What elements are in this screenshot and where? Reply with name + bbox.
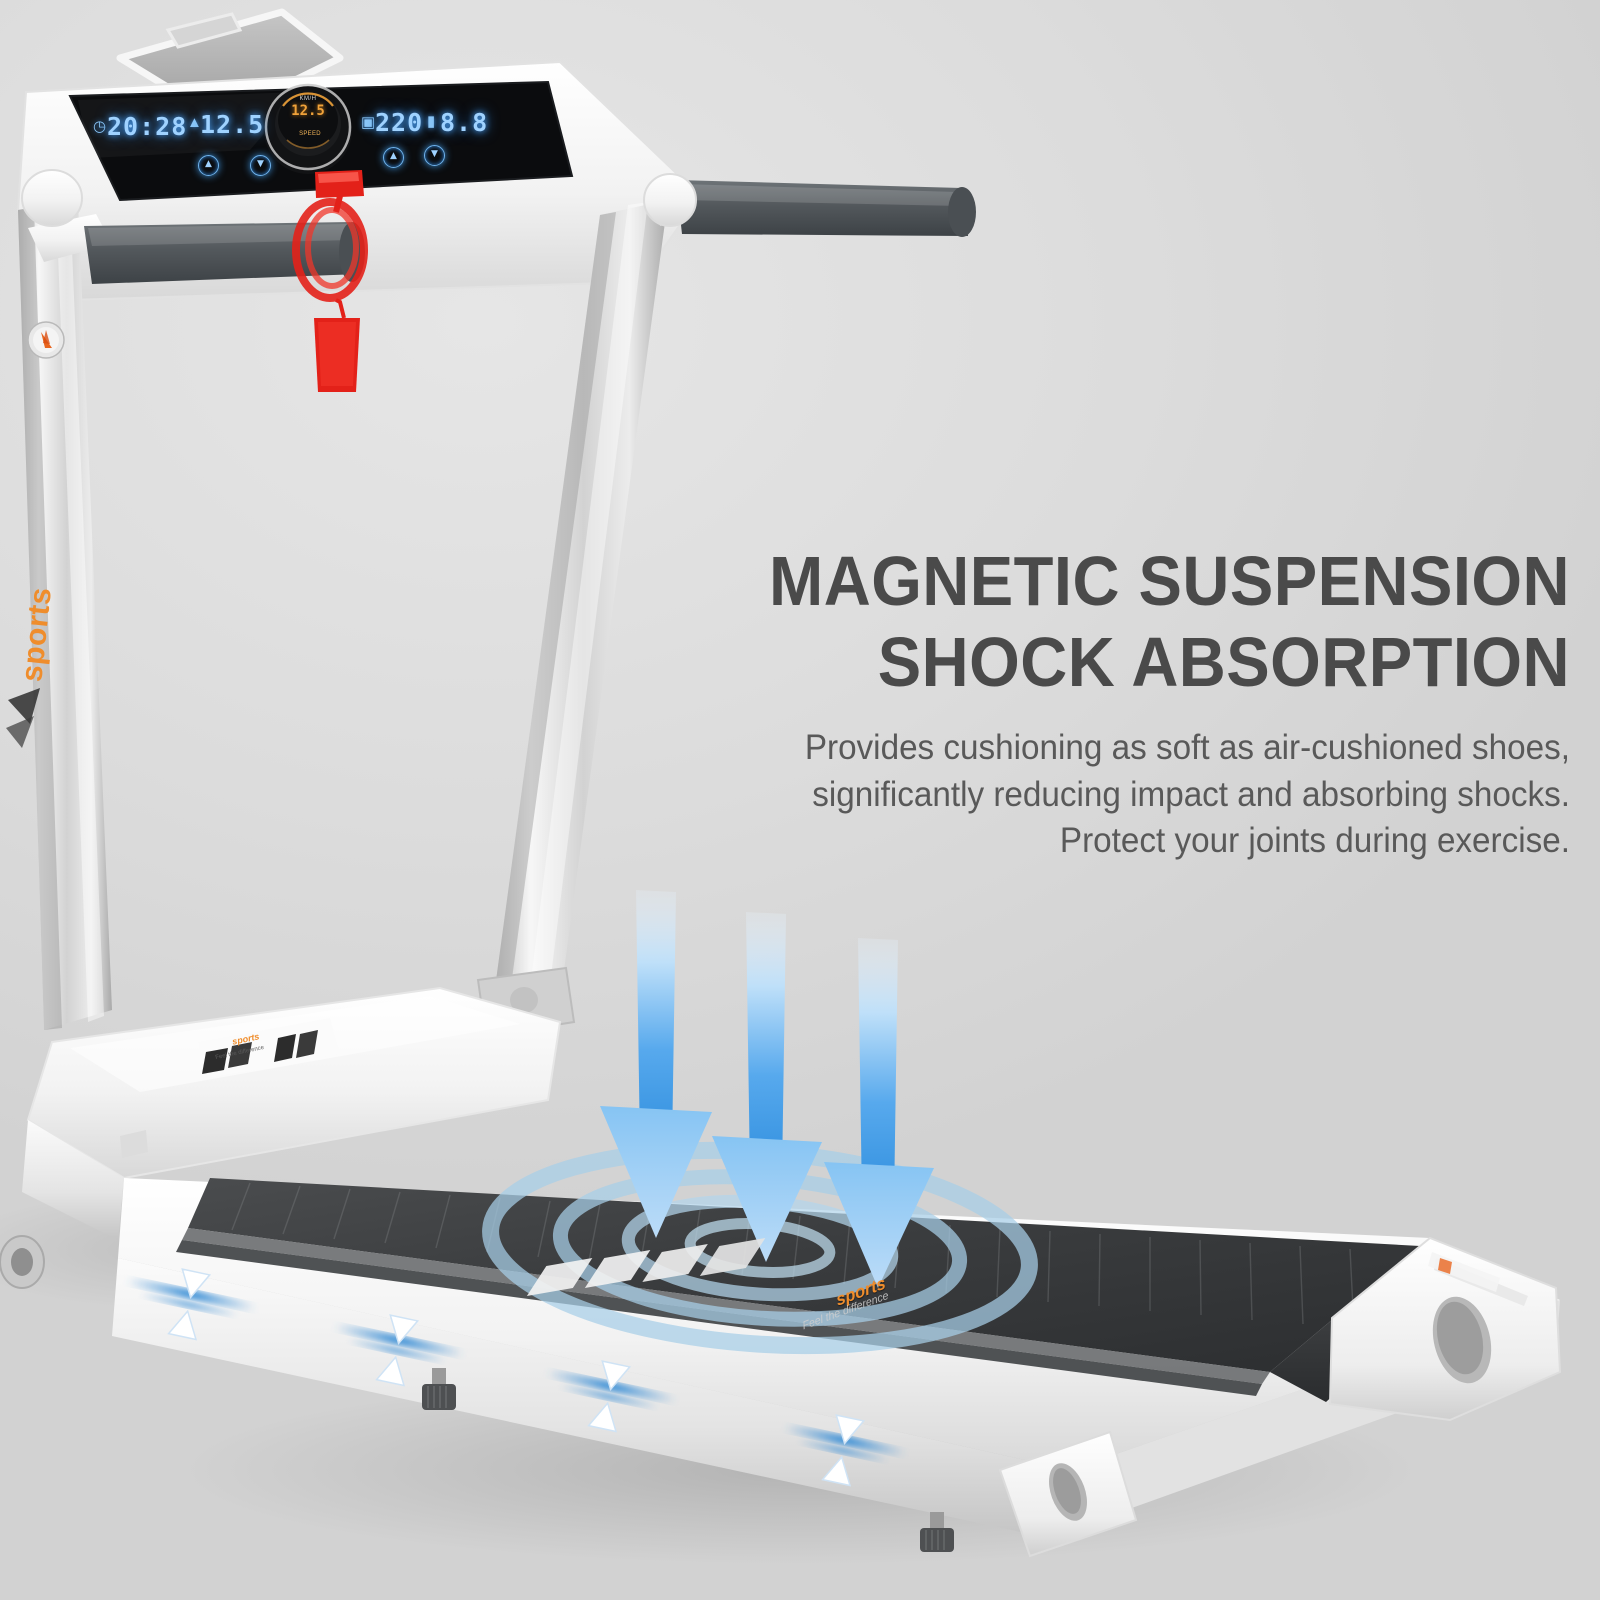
- marketing-copy-block: MAGNETIC SUSPENSION SHOCK ABSORPTION Pro…: [600, 548, 1570, 865]
- handlebar-right: [644, 174, 976, 237]
- clock-icon: ◷: [93, 117, 106, 135]
- program-up-touch-button[interactable]: ▲: [383, 147, 404, 168]
- transport-wheel: [0, 1236, 44, 1288]
- time-readout: 20:28: [107, 112, 187, 141]
- body-line-3: Protect your joints during exercise.: [649, 818, 1571, 865]
- distance-icon: ▮: [427, 112, 435, 130]
- program-down-touch-button[interactable]: ▼: [424, 145, 445, 166]
- product-marketing-image: ◷ 20:28 ▲ 12.5 ▣ 220 ▮ 8.8 ▲ ▼ ▲ ▼ KM/H …: [0, 0, 1600, 1600]
- knob-speed-value: 12.5: [286, 104, 330, 118]
- calories-icon: ▣: [361, 113, 375, 131]
- speed-down-touch-button[interactable]: ▼: [250, 155, 271, 176]
- knob-sub-label: SPEED: [288, 131, 332, 137]
- speed-up-touch-button[interactable]: ▲: [198, 155, 219, 176]
- body-line-1: Provides cushioning as soft as air-cushi…: [649, 725, 1571, 772]
- calories-readout: 220: [375, 108, 423, 137]
- speed-readout: 12.5: [200, 110, 264, 139]
- body-copy: Provides cushioning as soft as air-cushi…: [649, 725, 1571, 865]
- headline-line-2: SHOCK ABSORPTION: [668, 629, 1570, 696]
- knob-unit-label: KM/H: [286, 96, 330, 102]
- headline-line-1: MAGNETIC SUSPENSION: [668, 548, 1570, 615]
- distance-readout: 8.8: [440, 108, 488, 137]
- body-line-2: significantly reducing impact and absorb…: [649, 772, 1571, 819]
